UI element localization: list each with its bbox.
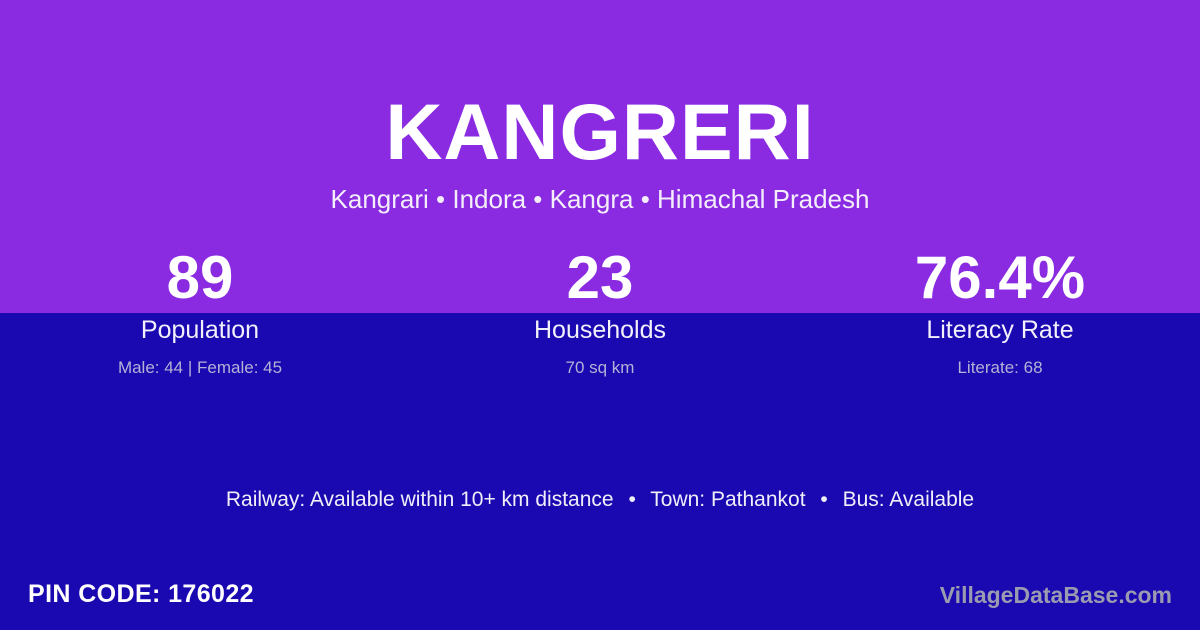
stat-sub-households: 70 sq km: [400, 357, 800, 379]
infra-town: Town: Pathankot: [650, 488, 805, 511]
stats-row: 89 Population Male: 44 | Female: 45 23 H…: [0, 246, 1200, 379]
pin-code: PIN CODE: 176022: [28, 582, 254, 607]
page-title: KANGRERI: [0, 92, 1200, 171]
stat-label-households: Households: [400, 315, 800, 346]
infra-railway: Railway: Available within 10+ km distanc…: [226, 488, 614, 511]
stat-literacy-rate: 76.4% Literacy Rate Literate: 68: [800, 246, 1200, 379]
stat-sub-population: Male: 44 | Female: 45: [0, 357, 400, 379]
infra-separator-1: •: [619, 486, 644, 513]
stat-label-literacy-rate: Literacy Rate: [800, 315, 1200, 346]
site-branding: VillageDataBase.com: [940, 584, 1172, 607]
infra-separator-2: •: [811, 486, 836, 513]
breadcrumb: Kangrari • Indora • Kangra • Himachal Pr…: [0, 184, 1200, 215]
stat-households: 23 Households 70 sq km: [400, 246, 800, 379]
stat-sub-literacy-rate: Literate: 68: [800, 357, 1200, 379]
village-info-card: KANGRERI Kangrari • Indora • Kangra • Hi…: [0, 0, 1200, 630]
stat-value-literacy-rate: 76.4%: [800, 246, 1200, 311]
stat-label-population: Population: [0, 315, 400, 346]
infrastructure-row: Railway: Available within 10+ km distanc…: [0, 486, 1200, 513]
stat-population: 89 Population Male: 44 | Female: 45: [0, 246, 400, 379]
stat-value-households: 23: [400, 246, 800, 311]
stat-value-population: 89: [0, 246, 400, 311]
infra-bus: Bus: Available: [843, 488, 975, 511]
